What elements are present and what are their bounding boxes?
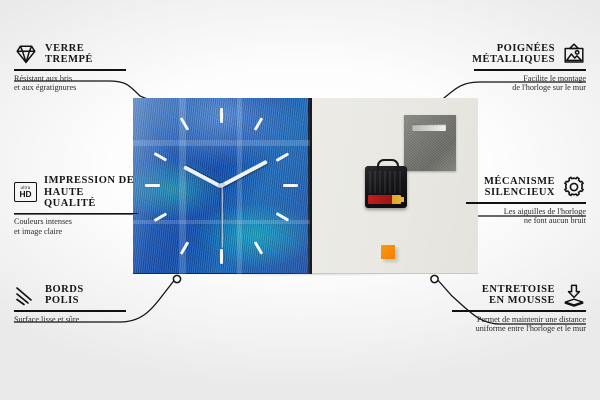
callout-poignees-metalliques: POIGNÉES MÉTALLIQUES Facilite le montage… <box>474 42 586 93</box>
callout-subtitle: Couleurs intenses et image claire <box>14 217 138 236</box>
callout-entretoise-en-mousse: ENTRETOISE EN MOUSSE Permet de maintenir… <box>452 283 586 334</box>
clock-back-panel <box>310 98 478 274</box>
divider <box>452 310 586 312</box>
callout-subtitle: Les aiguilles de l'horloge ne font aucun… <box>466 207 586 226</box>
metal-hanger-plate <box>404 115 456 171</box>
divider <box>14 213 138 215</box>
callout-title: BORDS POLIS <box>45 284 84 307</box>
polished-edge-icon <box>14 283 38 307</box>
foam-spacer <box>381 245 395 259</box>
callout-title: ENTRETOISE EN MOUSSE <box>482 284 555 307</box>
glass-clock-face <box>133 98 310 274</box>
callout-subtitle: Résistant aux bris et aux égratignures <box>14 74 126 93</box>
callout-subtitle: Surface lisse et sûre <box>14 315 126 325</box>
clock-mechanism <box>365 166 407 208</box>
callout-verre-trempe: VERRE TREMPÉ Résistant aux bris et aux é… <box>14 42 126 93</box>
callout-bords-polis: BORDS POLIS Surface lisse et sûre <box>14 283 126 324</box>
divider <box>474 69 586 71</box>
callout-subtitle: Facilite le montage de l'horloge sur le … <box>474 74 586 93</box>
callout-title: MÉCANISME SILENCIEUX <box>484 176 555 199</box>
ultra-hd-icon: ultra HD <box>14 182 37 202</box>
foam-spacer-icon <box>562 283 586 307</box>
infographic-canvas: VERRE TREMPÉ Résistant aux bris et aux é… <box>0 0 600 400</box>
callout-subtitle: Permet de maintenir une distance uniform… <box>452 315 586 334</box>
callout-title: VERRE TREMPÉ <box>45 43 93 66</box>
divider <box>14 69 126 71</box>
wall-hanger-icon <box>562 42 586 66</box>
divider <box>466 202 586 204</box>
divider <box>14 310 126 312</box>
diamond-icon <box>14 42 38 66</box>
callout-impression-hd: ultra HD IMPRESSION DE HAUTE QUALITÉ Cou… <box>14 175 138 236</box>
product-image <box>133 98 478 274</box>
battery <box>368 195 401 204</box>
callout-mecanisme-silencieux: MÉCANISME SILENCIEUX Les aiguilles de l'… <box>466 175 586 226</box>
callout-title: POIGNÉES MÉTALLIQUES <box>472 43 555 66</box>
gear-icon <box>562 175 586 199</box>
ultra-hd-icon-large-text: HD <box>19 190 31 199</box>
callout-title: IMPRESSION DE HAUTE QUALITÉ <box>44 175 138 210</box>
